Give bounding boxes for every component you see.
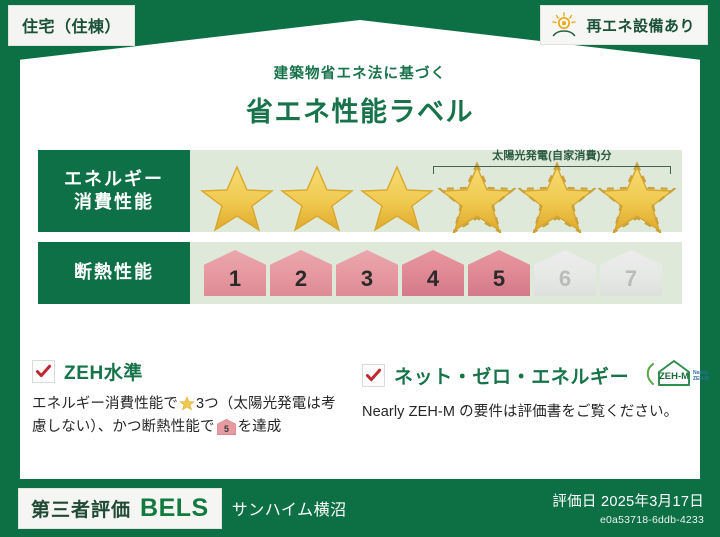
label-footer: 第三者評価 BELS サンハイム横沼 評価日 2025年3月17日 e0a537…	[0, 479, 720, 537]
zeh-checkbox	[32, 360, 55, 383]
zeh-title: ZEH水準	[64, 358, 143, 385]
title-subtitle: 建築物省エネ法に基づく	[0, 62, 720, 83]
zeh-desc-part1: エネルギー消費性能で	[32, 396, 178, 412]
criterion-net-zero-energy: ネット・ゼロ・エネルギー ZEH-M Nearly ZEH-M Nearly Z…	[362, 358, 692, 440]
insulation-level-6: 6	[534, 250, 596, 296]
check-icon	[365, 367, 382, 384]
zeh-desc-part3: を達成	[238, 419, 282, 435]
energy-label-line1: エネルギー	[64, 168, 164, 191]
evaluation-info: 評価日 2025年3月17日 e0a53718-6ddb-4233	[552, 490, 704, 526]
energy-performance-label: エネルギー 消費性能	[38, 150, 190, 232]
nze-title: ネット・ゼロ・エネルギー	[394, 362, 629, 389]
evaluation-id: e0a53718-6ddb-4233	[552, 514, 704, 526]
title-main: 省エネ性能ラベル	[0, 90, 720, 129]
star-3	[358, 161, 436, 233]
bels-mark: BELS	[140, 494, 209, 523]
svg-text:ZEH-M: ZEH-M	[659, 371, 689, 382]
inline-star-icon	[179, 395, 195, 411]
criteria-section: ZEH水準 エネルギー消費性能で3つ（太陽光発電は考慮しない）、かつ断熱性能で5…	[32, 358, 692, 440]
star-2	[278, 161, 356, 233]
insulation-level-5: 5	[468, 250, 530, 296]
insulation-performance-row: 断熱性能 1 2 3 4 5 6 7	[38, 242, 682, 304]
inline-level-badge: 5	[217, 419, 236, 435]
nze-description: Nearly ZEH-M の要件は評価書をご覧ください。	[362, 401, 692, 424]
insulation-performance-value: 1 2 3 4 5 6 7	[190, 242, 682, 304]
criterion-zeh-standard: ZEH水準 エネルギー消費性能で3つ（太陽光発電は考慮しない）、かつ断熱性能で5…	[32, 358, 348, 440]
insulation-level-scale: 1 2 3 4 5 6 7	[190, 242, 682, 304]
performance-rows: エネルギー 消費性能	[38, 150, 682, 314]
zeh-m-logo-icon: ZEH-M Nearly ZEH-M	[643, 358, 711, 393]
energy-performance-label: 住宅（住棟） 再エネ設備あり 建築物省エネ法に基づく 省エネ性能ラベル	[0, 0, 720, 537]
star-rating	[190, 150, 682, 232]
energy-performance-value: 太陽光発電(自家消費)分	[190, 150, 682, 232]
star-5-solar	[518, 161, 596, 233]
label-title-block: 建築物省エネ法に基づく 省エネ性能ラベル	[0, 62, 720, 129]
criterion-nze-header: ネット・ゼロ・エネルギー ZEH-M Nearly ZEH-M	[362, 358, 692, 393]
sun-solar-icon	[549, 11, 579, 39]
criterion-zeh-header: ZEH水準	[32, 358, 348, 385]
star-1	[198, 161, 276, 233]
energy-label-line2: 消費性能	[74, 191, 154, 214]
building-name: サンハイム横沼	[232, 496, 347, 520]
insulation-level-3: 3	[336, 250, 398, 296]
insulation-performance-label: 断熱性能	[38, 242, 190, 304]
energy-performance-row: エネルギー 消費性能	[38, 150, 682, 232]
check-icon	[35, 363, 52, 380]
insulation-level-2: 2	[270, 250, 332, 296]
star-4-solar	[438, 161, 516, 233]
third-party-label: 第三者評価	[31, 495, 131, 522]
evaluation-date: 評価日 2025年3月17日	[552, 490, 704, 511]
zeh-description: エネルギー消費性能で3つ（太陽光発電は考慮しない）、かつ断熱性能で5を達成	[32, 393, 348, 440]
star-6-solar	[598, 161, 676, 233]
house-type-badge: 住宅（住棟）	[8, 5, 135, 46]
renewable-equipment-badge: 再エネ設備あり	[540, 5, 708, 45]
svg-text:5: 5	[224, 424, 229, 434]
insulation-level-1: 1	[204, 250, 266, 296]
insulation-level-7: 7	[600, 250, 662, 296]
renewable-badge-label: 再エネ設備あり	[586, 15, 695, 36]
nze-checkbox	[362, 364, 385, 387]
bels-badge: 第三者評価 BELS	[18, 488, 222, 529]
svg-text:ZEH-M: ZEH-M	[693, 376, 709, 382]
insulation-level-4: 4	[402, 250, 464, 296]
